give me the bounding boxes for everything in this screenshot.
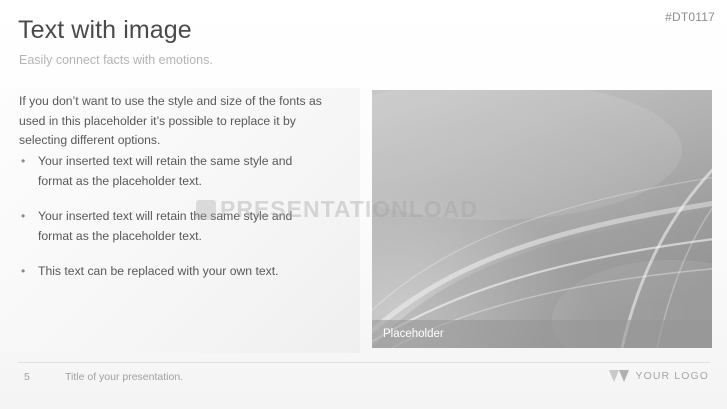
list-item-label: Your inserted text will retain the same … [38,209,292,243]
page-number: 5 [24,371,30,383]
placeholder-label: Placeholder [383,328,444,340]
logo-mark-icon [608,368,630,384]
footer-divider [18,362,710,363]
list-item: • Your inserted text will retain the sam… [19,152,329,191]
image-placeholder[interactable] [372,90,712,348]
abstract-swirl-image [372,90,712,348]
document-code: #DT0117 [665,10,715,24]
footer-title: Title of your presentation. [65,371,183,383]
bullet-marker-icon: • [21,207,25,227]
list-item-label: This text can be replaced with your own … [38,264,278,278]
list-item: • Your inserted text will retain the sam… [19,207,329,246]
bullet-list: • Your inserted text will retain the sam… [19,152,329,298]
bullet-marker-icon: • [21,262,25,282]
body-paragraph: If you don’t want to use the style and s… [19,92,331,151]
logo: YOUR LOGO [608,368,710,384]
page-title: Text with image [18,16,192,45]
page-subtitle: Easily connect facts with emotions. [19,53,213,67]
list-item: • This text can be replaced with your ow… [19,262,329,282]
bullet-marker-icon: • [21,152,25,172]
slide: #DT0117 Text with image Easily connect f… [0,0,727,409]
logo-text: YOUR LOGO [636,370,710,382]
list-item-label: Your inserted text will retain the same … [38,154,292,188]
